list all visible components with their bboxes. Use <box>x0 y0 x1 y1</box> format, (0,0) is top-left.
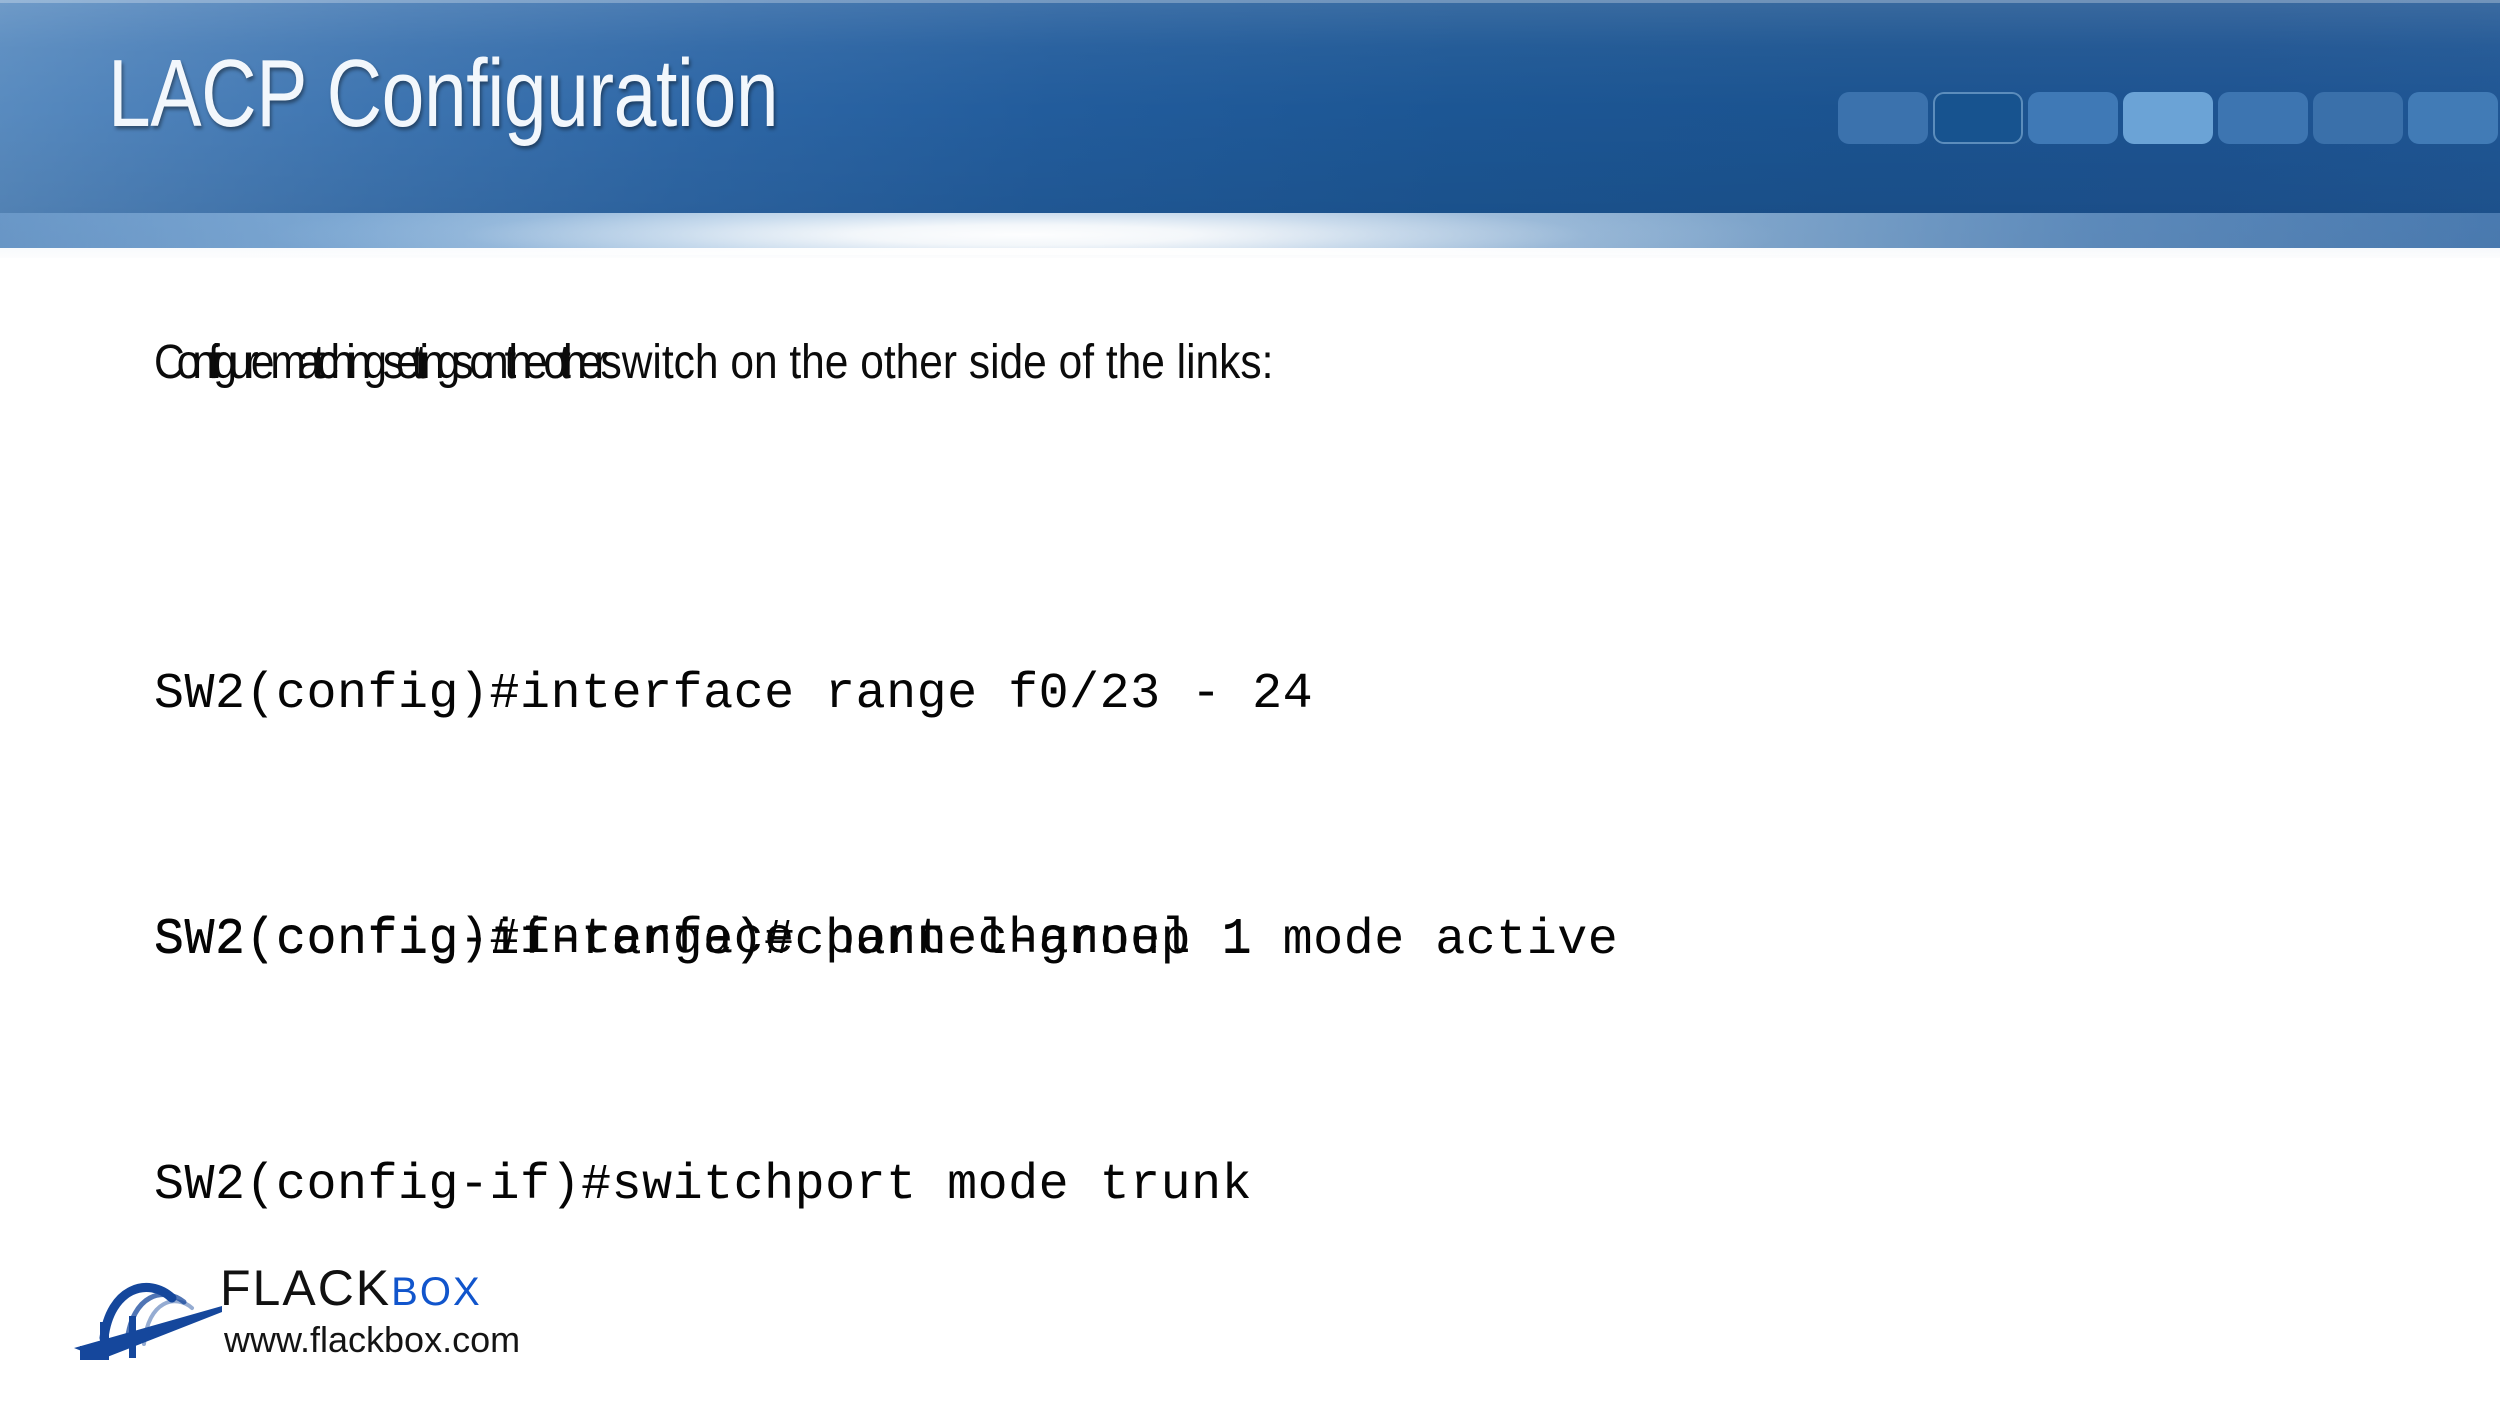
flackbox-logo: FLACKBOX www.flackbox.com <box>72 1258 542 1370</box>
intro-paragraph-part2: switch on the other side of the links: <box>600 336 1273 389</box>
decor-square <box>1933 92 2023 144</box>
bridge-icon <box>72 1260 224 1362</box>
slide-root: LACP Configuration Configure matching se… <box>0 0 2500 1406</box>
header-top-hairline <box>0 0 2500 3</box>
decor-square <box>2028 92 2118 144</box>
decor-square <box>1838 92 1928 144</box>
header-gloss-fade <box>0 248 2500 270</box>
logo-wordmark: FLACKBOX <box>220 1262 482 1318</box>
logo-brand-second: BOX <box>391 1270 481 1314</box>
code-line: SW2(config)#interface port-channel 1 <box>154 899 1252 981</box>
code-line: SW2(config)#interface range f0/23 - 24 <box>154 654 1618 736</box>
header-decor-squares <box>1838 92 2500 144</box>
code-line: SW2(config-if)#switchport mode trunk <box>154 1145 1252 1227</box>
logo-url: www.flackbox.com <box>224 1320 520 1360</box>
intro-paragraph-part1: Configure matching settings on the other <box>154 336 600 389</box>
logo-brand-first: FLACK <box>220 1260 391 1316</box>
decor-square <box>2313 92 2403 144</box>
decor-square <box>2218 92 2308 144</box>
intro-paragraph: Configure matching settings on the other… <box>154 334 1273 392</box>
decor-square <box>2408 92 2498 144</box>
decor-square <box>2123 92 2213 144</box>
page-title: LACP Configuration <box>108 38 778 150</box>
